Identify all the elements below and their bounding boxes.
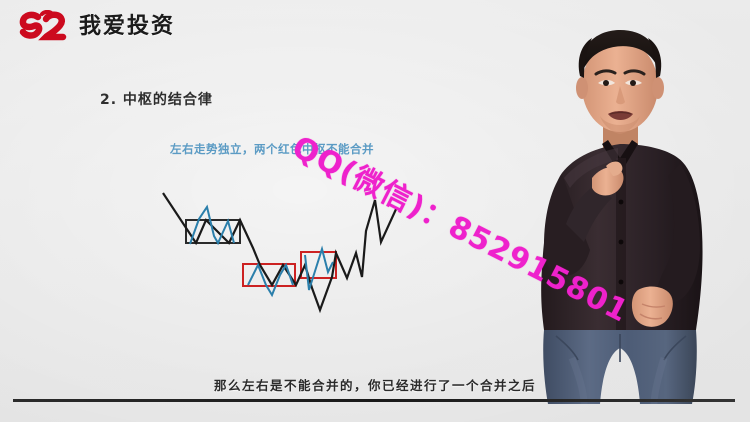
video-frame: 我爱投资 2. 中枢的结合律 左右走势独立，两个红色中枢不能合并 — [0, 0, 750, 422]
chart-series — [163, 193, 397, 310]
logo-wordmark: 我爱投资 — [79, 16, 175, 38]
chart-series-line — [248, 265, 293, 295]
bottom-divider — [13, 399, 735, 402]
chart-series-line — [190, 207, 234, 244]
logo-52-icon — [18, 10, 70, 44]
page-title: 2. 中枢的结合律 — [100, 89, 213, 109]
presenter-head — [576, 30, 664, 134]
chart-box — [243, 264, 295, 286]
chart-box — [186, 220, 240, 243]
brand-logo: 我爱投资 — [18, 10, 175, 44]
chart-series-line — [305, 249, 333, 290]
chart-boxes — [186, 220, 336, 286]
chart-box — [301, 252, 336, 278]
presenter-video-overlay — [520, 18, 750, 404]
chart-series-line — [163, 193, 397, 310]
